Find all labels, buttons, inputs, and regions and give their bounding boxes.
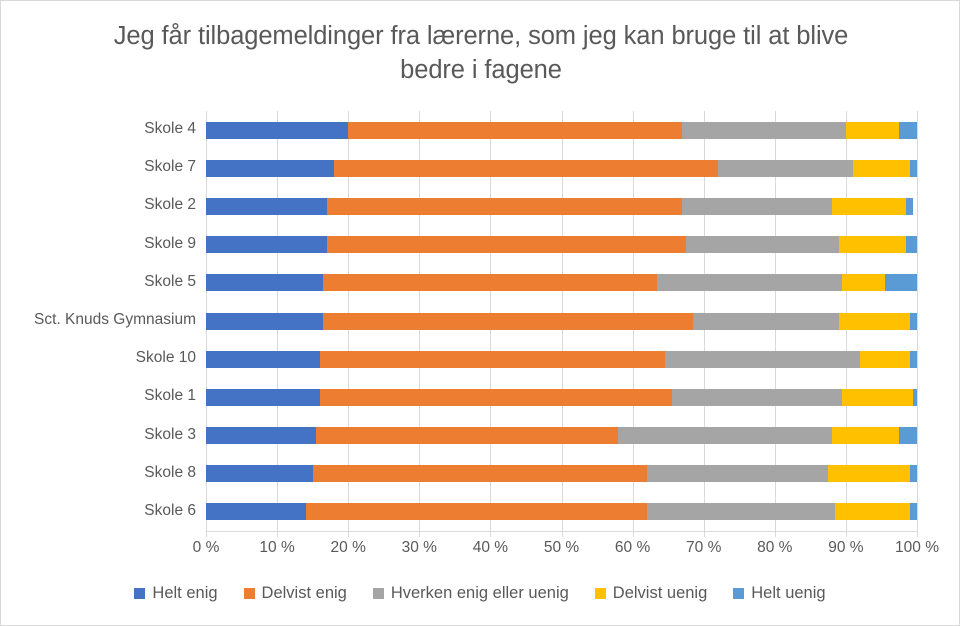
- bar-row[interactable]: [206, 274, 917, 291]
- x-tick-label: 100 %: [895, 539, 939, 557]
- bar-segment[interactable]: [320, 351, 665, 368]
- bar-segment[interactable]: [206, 160, 334, 177]
- x-tick-mark: [704, 531, 705, 537]
- chart-title: Jeg får tilbagemeldinger fra lærerne, so…: [91, 19, 871, 87]
- bar-segment[interactable]: [665, 351, 861, 368]
- legend-item[interactable]: Helt uenig: [733, 584, 825, 603]
- x-tick-mark: [775, 531, 776, 537]
- bar-segment[interactable]: [206, 351, 320, 368]
- bar-segment[interactable]: [348, 122, 682, 139]
- x-tick-label: 20 %: [331, 539, 366, 557]
- x-tick-label: 90 %: [828, 539, 863, 557]
- chart-container: Jeg får tilbagemeldinger fra lærerne, so…: [0, 0, 960, 626]
- category-label: Skole 10: [0, 349, 196, 367]
- bar-segment[interactable]: [206, 236, 327, 253]
- bar-row[interactable]: [206, 160, 917, 177]
- bar-segment[interactable]: [206, 465, 313, 482]
- bar-segment[interactable]: [206, 122, 348, 139]
- bar-segment[interactable]: [913, 389, 917, 406]
- bar-row[interactable]: [206, 427, 917, 444]
- category-label: Skole 1: [0, 387, 196, 405]
- legend-label: Hverken enig eller uenig: [391, 584, 569, 603]
- bar-segment[interactable]: [839, 313, 910, 330]
- bar-segment[interactable]: [647, 503, 835, 520]
- bar-row[interactable]: [206, 313, 917, 330]
- bar-segment[interactable]: [686, 236, 839, 253]
- x-tick-label: 30 %: [402, 539, 437, 557]
- bar-row[interactable]: [206, 465, 917, 482]
- legend-item[interactable]: Delvist uenig: [595, 584, 707, 603]
- x-tick-mark: [846, 531, 847, 537]
- bar-segment[interactable]: [860, 351, 910, 368]
- x-tick-label: 70 %: [686, 539, 721, 557]
- x-tick-mark: [206, 531, 207, 537]
- category-label: Skole 9: [0, 235, 196, 253]
- bar-segment[interactable]: [682, 198, 831, 215]
- bar-segment[interactable]: [206, 389, 320, 406]
- legend-item[interactable]: Helt enig: [134, 584, 217, 603]
- bar-segment[interactable]: [910, 351, 917, 368]
- bar-segment[interactable]: [316, 427, 618, 444]
- bar-row[interactable]: [206, 503, 917, 520]
- bar-row[interactable]: [206, 351, 917, 368]
- category-label: Skole 2: [0, 196, 196, 214]
- bar-segment[interactable]: [832, 198, 907, 215]
- category-label: Sct. Knuds Gymnasium: [0, 311, 196, 329]
- legend-label: Helt uenig: [751, 584, 825, 603]
- bar-row[interactable]: [206, 198, 917, 215]
- bar-segment[interactable]: [839, 236, 907, 253]
- bar-segment[interactable]: [206, 198, 327, 215]
- legend-swatch-icon: [373, 588, 384, 599]
- x-tick-label: 0 %: [193, 539, 220, 557]
- x-tick-label: 40 %: [473, 539, 508, 557]
- bar-segment[interactable]: [618, 427, 831, 444]
- legend-item[interactable]: Hverken enig eller uenig: [373, 584, 569, 603]
- x-tick-label: 10 %: [259, 539, 294, 557]
- bar-segment[interactable]: [846, 122, 899, 139]
- legend-item[interactable]: Delvist enig: [244, 584, 347, 603]
- bar-segment[interactable]: [672, 389, 843, 406]
- bar-segment[interactable]: [910, 160, 917, 177]
- bar-segment[interactable]: [853, 160, 910, 177]
- category-label: Skole 5: [0, 273, 196, 291]
- bar-segment[interactable]: [682, 122, 846, 139]
- bar-segment[interactable]: [206, 503, 306, 520]
- legend-swatch-icon: [595, 588, 606, 599]
- x-axis-tick-labels: 0 %10 %20 %30 %40 %50 %60 %70 %80 %90 %1…: [206, 531, 917, 561]
- legend-label: Helt enig: [152, 584, 217, 603]
- legend-label: Delvist uenig: [613, 584, 707, 603]
- category-label: Skole 3: [0, 426, 196, 444]
- bar-row[interactable]: [206, 389, 917, 406]
- bar-segment[interactable]: [718, 160, 853, 177]
- x-tick-label: 60 %: [615, 539, 650, 557]
- bar-segment[interactable]: [320, 389, 672, 406]
- bar-segment[interactable]: [832, 427, 900, 444]
- category-label: Skole 6: [0, 502, 196, 520]
- bar-segment[interactable]: [206, 274, 323, 291]
- bar-segment[interactable]: [899, 427, 917, 444]
- bar-segment[interactable]: [334, 160, 718, 177]
- plot-area: [206, 111, 917, 531]
- bar-row[interactable]: [206, 236, 917, 253]
- bar-series-group: [206, 111, 917, 531]
- bar-segment[interactable]: [647, 465, 828, 482]
- bar-segment[interactable]: [327, 198, 683, 215]
- x-tick-label: 80 %: [757, 539, 792, 557]
- x-tick-mark: [562, 531, 563, 537]
- legend-swatch-icon: [244, 588, 255, 599]
- x-tick-label: 50 %: [544, 539, 579, 557]
- bar-segment[interactable]: [323, 274, 657, 291]
- x-tick-mark: [348, 531, 349, 537]
- bar-segment[interactable]: [910, 465, 917, 482]
- bar-row[interactable]: [206, 122, 917, 139]
- bar-segment[interactable]: [899, 122, 917, 139]
- bar-segment[interactable]: [206, 313, 323, 330]
- bar-segment[interactable]: [828, 465, 910, 482]
- x-tick-mark: [490, 531, 491, 537]
- bar-segment[interactable]: [206, 427, 316, 444]
- bar-segment[interactable]: [910, 503, 917, 520]
- x-tick-mark: [419, 531, 420, 537]
- category-label: Skole 8: [0, 464, 196, 482]
- bar-segment[interactable]: [906, 198, 913, 215]
- bar-segment[interactable]: [327, 236, 686, 253]
- bar-segment[interactable]: [306, 503, 647, 520]
- category-label: Skole 7: [0, 158, 196, 176]
- x-tick-mark: [917, 531, 918, 537]
- chart-legend: Helt enigDelvist enigHverken enig eller …: [1, 584, 959, 603]
- bar-segment[interactable]: [313, 465, 647, 482]
- bar-segment[interactable]: [885, 274, 917, 291]
- bar-segment[interactable]: [835, 503, 910, 520]
- bar-segment[interactable]: [323, 313, 693, 330]
- gridline-100: [917, 111, 918, 531]
- x-tick-mark: [277, 531, 278, 537]
- legend-swatch-icon: [134, 588, 145, 599]
- legend-swatch-icon: [733, 588, 744, 599]
- bar-segment[interactable]: [842, 274, 885, 291]
- bar-segment[interactable]: [657, 274, 842, 291]
- bar-segment[interactable]: [693, 313, 839, 330]
- bar-segment[interactable]: [906, 236, 917, 253]
- x-tick-mark: [633, 531, 634, 537]
- bar-segment[interactable]: [842, 389, 913, 406]
- bar-segment[interactable]: [910, 313, 917, 330]
- category-label: Skole 4: [0, 120, 196, 138]
- y-axis-category-labels: Skole 4Skole 7Skole 2Skole 9Skole 5Sct. …: [0, 111, 196, 531]
- legend-label: Delvist enig: [262, 584, 347, 603]
